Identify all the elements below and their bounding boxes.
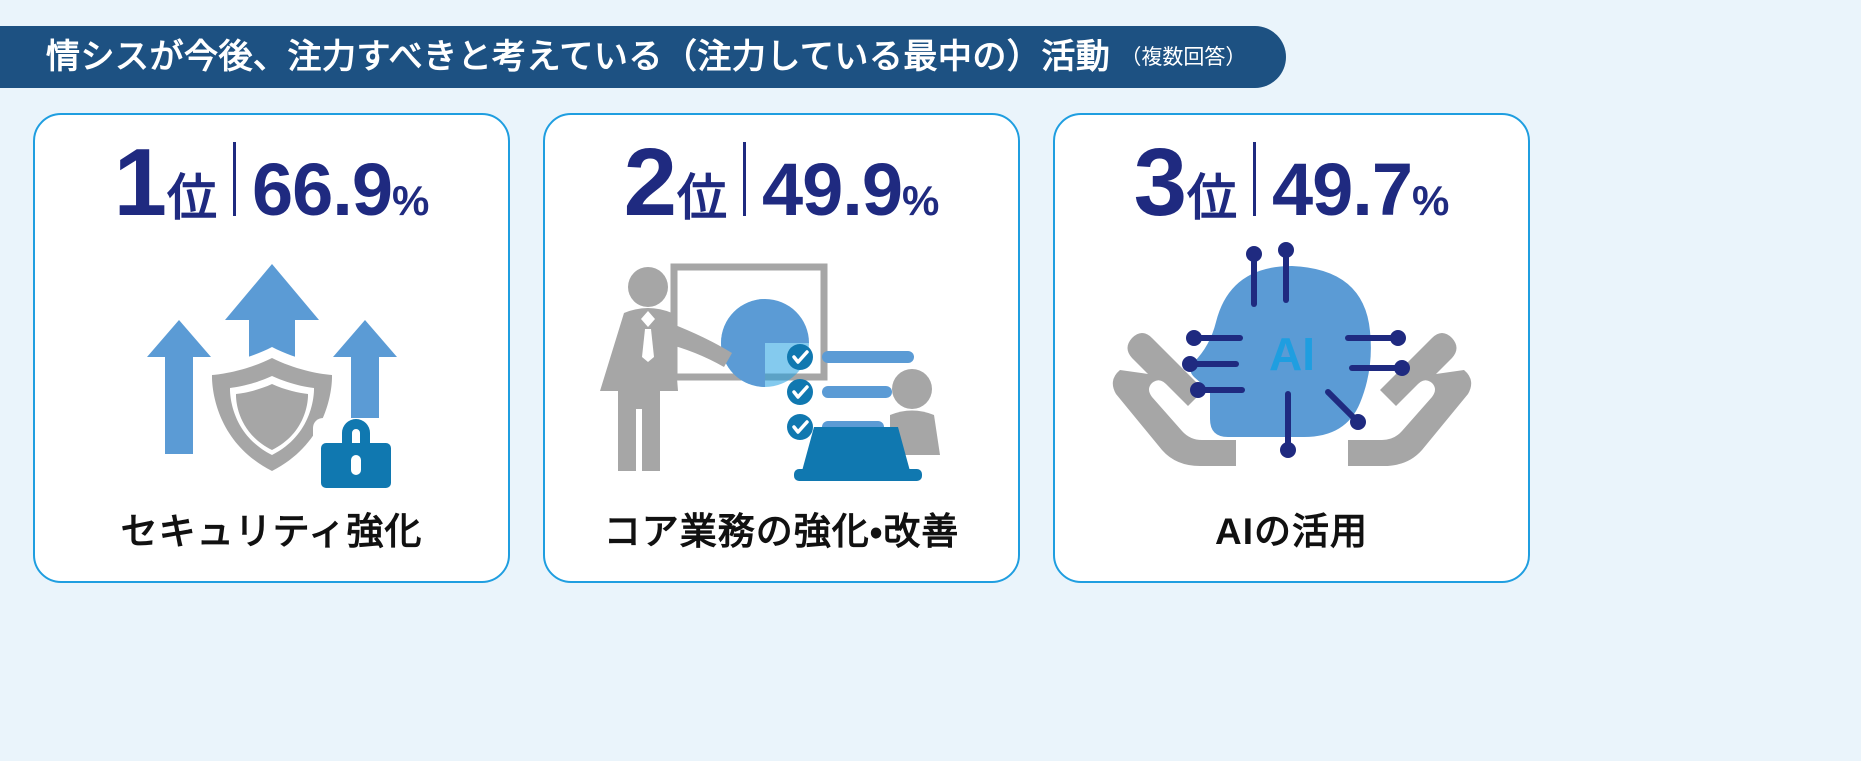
ai-brain-hands-icon: AI [1102,242,1482,492]
svg-text:AI: AI [1269,328,1315,380]
rank-number-2: 2 [624,137,675,228]
rank-unit-2: 位 [677,173,727,223]
presentation-checklist-icon [582,247,982,487]
rank-header-2: 2 位 49.9 % [624,137,940,233]
ranking-card-2[interactable]: 2 位 49.9 % [543,113,1020,583]
rank-header-3: 3 位 49.7 % [1134,137,1450,233]
icon-area-1 [35,233,508,501]
rank-percent-sign-1: % [392,177,429,225]
rank-number-3: 3 [1134,137,1185,228]
card-label-3: AIの活用 [1215,501,1368,555]
card-label-2: コア業務の強化・改善 [604,501,960,555]
page-title: 情シスが今後、注力すべきと考えている（注力している最中の）活動 [46,40,1110,74]
rank-percent-sign-3: % [1412,177,1449,225]
ranking-card-row: 1 位 66.9 % [0,113,1861,701]
card-label-1: セキュリティ強化 [121,501,423,555]
shield-lock-arrows-icon [107,242,437,492]
rank-percent-3: 49.7 [1272,153,1412,227]
rank-percent-sign-2: % [902,177,939,225]
icon-area-2 [545,233,1018,501]
rank-percent-2: 49.9 [762,153,902,227]
rank-header-1: 1 位 66.9 % [114,137,430,233]
rank-divider-2 [743,142,746,216]
page-title-note: （複数回答） [1120,47,1246,68]
rank-unit-3: 位 [1187,173,1237,223]
rank-percent-1: 66.9 [252,153,392,227]
rank-unit-1: 位 [167,173,217,223]
ranking-card-1[interactable]: 1 位 66.9 % [33,113,510,583]
ranking-card-3[interactable]: 3 位 49.7 % [1053,113,1530,583]
rank-divider-1 [233,142,236,216]
page-title-bar: 情シスが今後、注力すべきと考えている（注力している最中の）活動 （複数回答） [0,26,1286,88]
icon-area-3: AI [1055,233,1528,501]
rank-divider-3 [1253,142,1256,216]
rank-number-1: 1 [114,137,165,228]
